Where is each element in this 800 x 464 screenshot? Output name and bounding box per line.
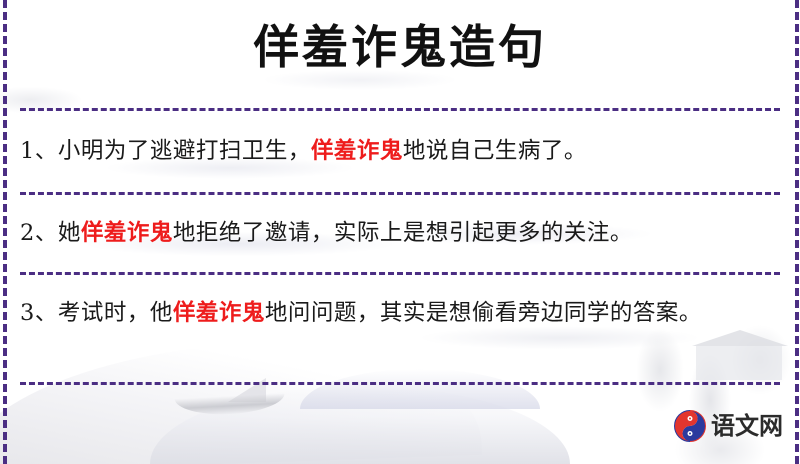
sentence-index: 3、 <box>20 300 58 326</box>
sentence-text: 地说自己生病了。 <box>403 138 587 164</box>
example-sentence-3: 3、考试时，他佯羞诈鬼地问问题，其实是想偷看旁边同学的答案。 <box>20 290 782 336</box>
slide-page: 佯羞诈鬼造句 1、小明为了逃避打扫卫生，佯羞诈鬼地说自己生病了。 2、她佯羞诈鬼… <box>0 0 800 464</box>
sentence-text: 小明为了逃避打扫卫生， <box>58 138 311 164</box>
site-logo-text: 语文网 <box>711 414 783 438</box>
sentence-text: 她 <box>58 220 81 246</box>
site-logo[interactable]: 语文网 <box>674 410 783 442</box>
divider-dashed-1 <box>20 108 780 111</box>
highlighted-idiom: 佯羞诈鬼 <box>311 138 403 164</box>
example-sentence-2: 2、她佯羞诈鬼地拒绝了邀请，实际上是想引起更多的关注。 <box>20 210 782 256</box>
highlighted-idiom: 佯羞诈鬼 <box>81 220 173 246</box>
sentence-text: 地问问题，其实是想偷看旁边同学的答案。 <box>265 300 702 326</box>
sentence-index: 2、 <box>20 220 58 246</box>
example-sentence-1: 1、小明为了逃避打扫卫生，佯羞诈鬼地说自己生病了。 <box>20 128 782 174</box>
divider-dashed-4 <box>20 382 780 385</box>
sentence-text: 考试时，他 <box>58 300 173 326</box>
sentence-index: 1、 <box>20 138 58 164</box>
divider-dashed-3 <box>20 272 780 275</box>
highlighted-idiom: 佯羞诈鬼 <box>173 300 265 326</box>
yinyang-fish-icon <box>674 410 706 442</box>
divider-dashed-2 <box>20 192 780 195</box>
content-area: 佯羞诈鬼造句 1、小明为了逃避打扫卫生，佯羞诈鬼地说自己生病了。 2、她佯羞诈鬼… <box>0 0 800 464</box>
sentence-text: 地拒绝了邀请，实际上是想引起更多的关注。 <box>173 220 633 246</box>
page-title: 佯羞诈鬼造句 <box>0 18 800 78</box>
